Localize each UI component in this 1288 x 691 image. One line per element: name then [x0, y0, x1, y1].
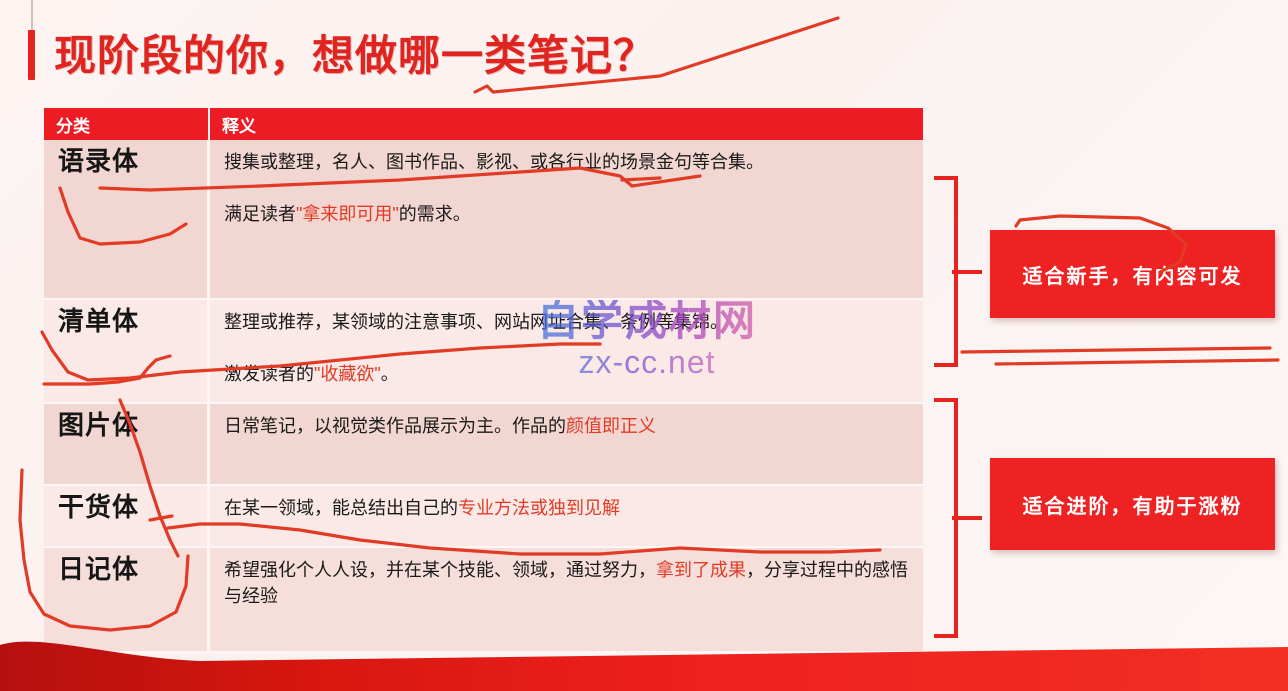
bracket-stem [952, 516, 982, 520]
row-category: 干货体 [44, 486, 210, 546]
definition-highlight: "拿来即可用" [296, 204, 399, 224]
callout-beginner: 适合新手，有内容可发 [990, 230, 1275, 318]
title-accent-bar [28, 30, 35, 80]
column-header-category: 分类 [44, 108, 210, 140]
definition-text: 满足读者 [224, 204, 296, 224]
definition-text: 整理或推荐，某领域的注意事项、网站网址合集、条例等集锦。 [224, 312, 728, 332]
row-category: 清单体 [44, 300, 210, 402]
table-row: 清单体 整理或推荐，某领域的注意事项、网站网址合集、条例等集锦。 激发读者的"收… [44, 300, 923, 404]
title-accent-thin-line [31, 0, 33, 30]
group-bracket-advanced [934, 398, 958, 638]
definition-text: 在某一领域，能总结出自己的 [224, 498, 458, 518]
definition-text: 搜集或整理，名人、图书作品、影视、或各行业的场景金句等合集。 [224, 152, 764, 172]
definition-text: 的需求。 [399, 204, 471, 224]
bottom-decorative-band [0, 631, 1288, 691]
row-category: 语录体 [44, 140, 210, 298]
callout-advanced: 适合进阶，有助于涨粉 [990, 458, 1275, 550]
definition-paragraph: 激发读者的"收藏欲"。 [224, 361, 911, 387]
definition-text: 。 [381, 364, 399, 384]
row-definition: 搜集或整理，名人、图书作品、影视、或各行业的场景金句等合集。 满足读者"拿来即可… [210, 140, 923, 298]
definition-text: 激发读者的 [224, 364, 314, 384]
row-definition: 在某一领域，能总结出自己的专业方法或独到见解 [210, 486, 923, 546]
definition-paragraph: 在某一领域，能总结出自己的专业方法或独到见解 [224, 495, 911, 521]
table-row: 图片体 日常笔记，以视觉类作品展示为主。作品的颜值即正义 [44, 404, 923, 486]
row-category: 图片体 [44, 404, 210, 484]
callout-label: 适合新手，有内容可发 [1023, 260, 1243, 289]
page-title: 现阶段的你，想做哪一类笔记？ [54, 22, 656, 83]
row-definition: 日常笔记，以视觉类作品展示为主。作品的颜值即正义 [210, 404, 923, 484]
table-row: 语录体 搜集或整理，名人、图书作品、影视、或各行业的场景金句等合集。 满足读者"… [44, 140, 923, 300]
definition-highlight: 颜值即正义 [566, 416, 656, 436]
annotation-callout1-underline [962, 348, 1270, 352]
definition-text: 日常笔记，以视觉类作品展示为主。作品的 [224, 416, 566, 436]
definition-paragraph: 日常笔记，以视觉类作品展示为主。作品的颜值即正义 [224, 413, 911, 439]
callout-label: 适合进阶，有助于涨粉 [1023, 490, 1243, 519]
definition-paragraph: 满足读者"拿来即可用"的需求。 [224, 201, 911, 227]
note-types-table: 分类 释义 语录体 搜集或整理，名人、图书作品、影视、或各行业的场景金句等合集。… [44, 108, 923, 653]
bracket-stem [952, 270, 982, 274]
definition-highlight: 专业方法或独到见解 [458, 498, 620, 518]
definition-text: 希望强化个人人设，并在某个技能、领域，通过努力， [224, 560, 656, 580]
definition-paragraph: 整理或推荐，某领域的注意事项、网站网址合集、条例等集锦。 [224, 309, 911, 335]
table-header-row: 分类 释义 [44, 108, 923, 140]
definition-highlight: 拿到了成果 [656, 560, 746, 580]
table-row: 干货体 在某一领域，能总结出自己的专业方法或独到见解 [44, 486, 923, 548]
slide-canvas: 现阶段的你，想做哪一类笔记？ 分类 释义 语录体 搜集或整理，名人、图书作品、影… [0, 0, 1288, 691]
row-definition: 整理或推荐，某领域的注意事项、网站网址合集、条例等集锦。 激发读者的"收藏欲"。 [210, 300, 923, 402]
group-bracket-beginner [934, 176, 958, 367]
annotation-callout1-underline2 [996, 360, 1278, 364]
definition-paragraph: 搜集或整理，名人、图书作品、影视、或各行业的场景金句等合集。 [224, 149, 911, 175]
column-header-definition: 释义 [210, 108, 923, 140]
definition-paragraph: 希望强化个人人设，并在某个技能、领域，通过努力，拿到了成果，分享过程中的感悟与经… [224, 557, 911, 609]
definition-highlight: "收藏欲" [314, 364, 381, 384]
